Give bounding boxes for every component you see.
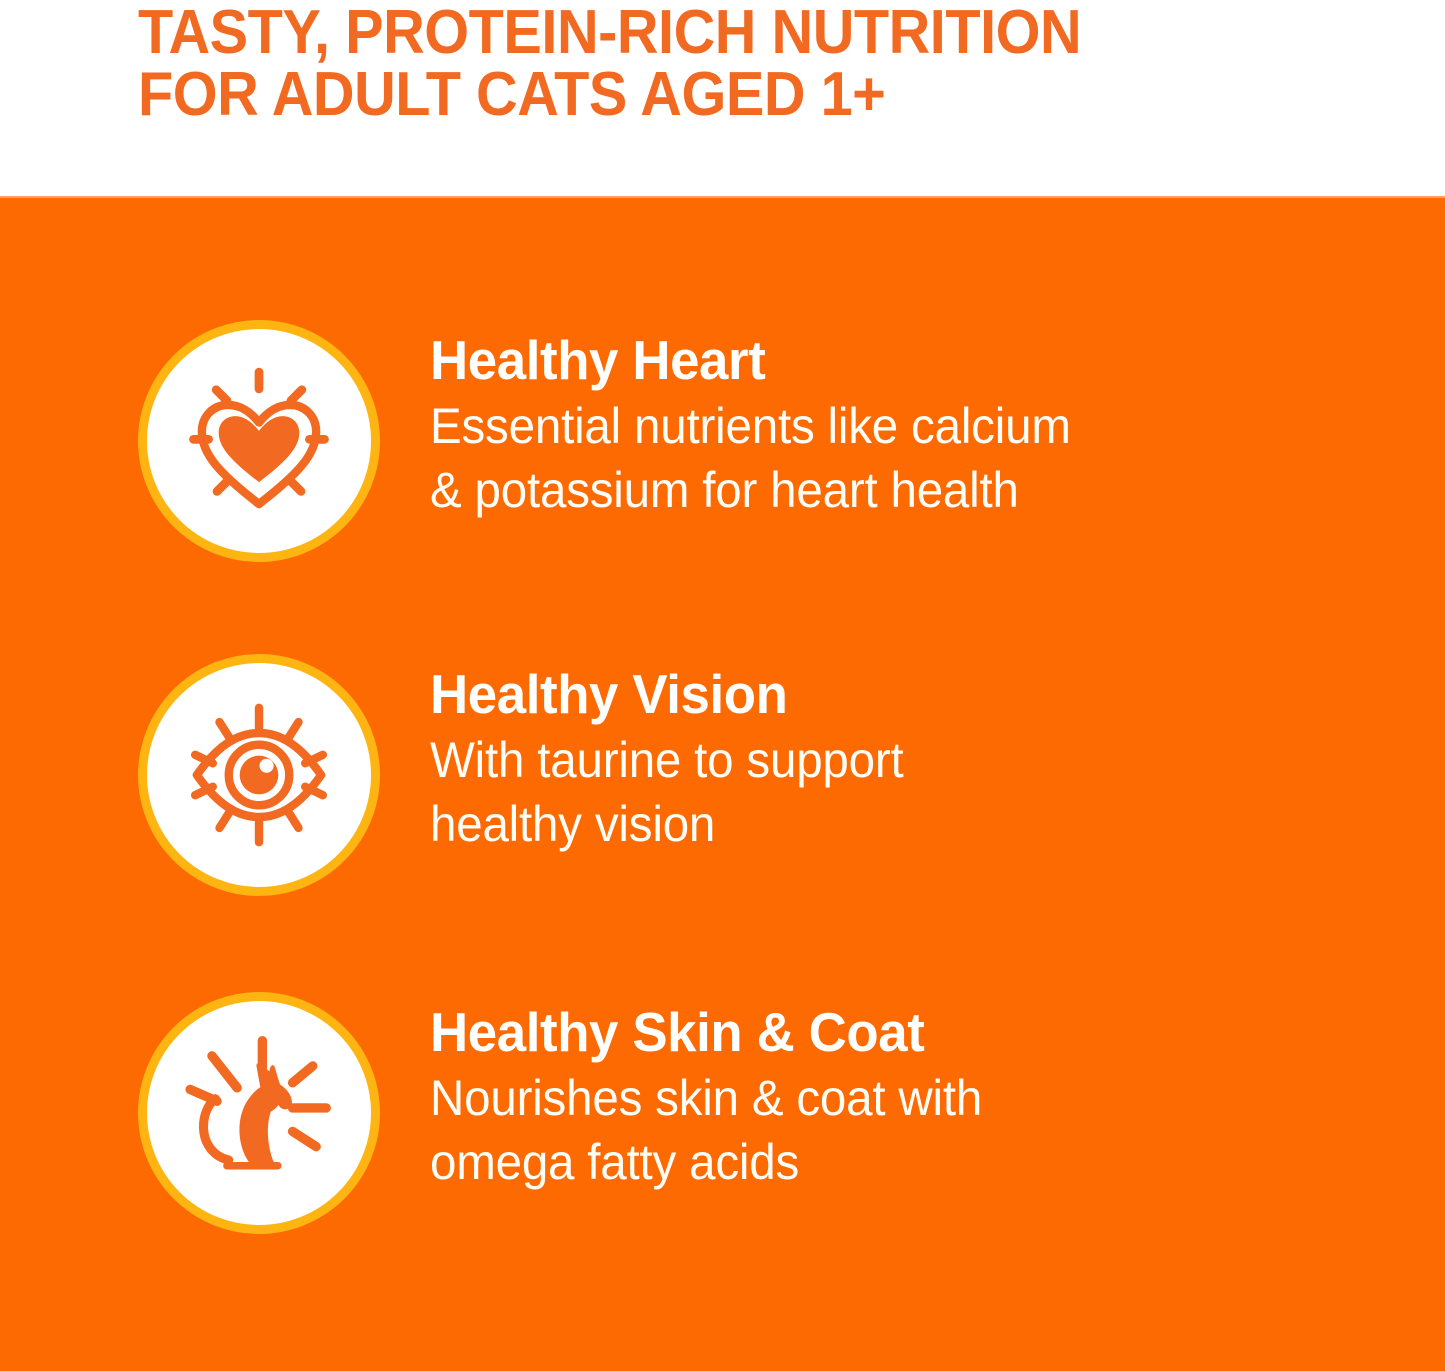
feature-title: Healthy Vision (430, 664, 1294, 724)
feature-description: Nourishes skin & coat with omega fatty a… (430, 1066, 1285, 1194)
product-benefits-banner: TASTY, PROTEIN-RICH NUTRITION FOR ADULT … (0, 0, 1445, 1371)
icon-badge-healthy-vision (138, 654, 380, 896)
page-title: TASTY, PROTEIN-RICH NUTRITION FOR ADULT … (138, 2, 1282, 126)
feature-title: Healthy Heart (430, 330, 1294, 390)
header-band: TASTY, PROTEIN-RICH NUTRITION FOR ADULT … (0, 0, 1445, 196)
feature-panel: Healthy Heart Essential nutrients like c… (0, 196, 1445, 1371)
feature-description: Essential nutrients like calcium & potas… (430, 394, 1285, 522)
feature-item-healthy-skin-coat: Healthy Skin & Coat Nourishes skin & coa… (0, 992, 1445, 1234)
radiant-cat-icon (175, 1029, 343, 1197)
feature-text-healthy-vision: Healthy Vision With taurine to support h… (430, 654, 1330, 856)
feature-item-healthy-heart: Healthy Heart Essential nutrients like c… (0, 320, 1445, 562)
radiant-eye-icon (175, 691, 343, 859)
feature-text-healthy-heart: Healthy Heart Essential nutrients like c… (430, 320, 1330, 522)
icon-badge-healthy-heart (138, 320, 380, 562)
feature-text-healthy-skin-coat: Healthy Skin & Coat Nourishes skin & coa… (430, 992, 1330, 1194)
radiant-heart-icon (175, 357, 343, 525)
feature-description: With taurine to support healthy vision (430, 728, 1285, 856)
icon-badge-healthy-skin-coat (138, 992, 380, 1234)
feature-title: Healthy Skin & Coat (430, 1002, 1294, 1062)
feature-item-healthy-vision: Healthy Vision With taurine to support h… (0, 654, 1445, 896)
